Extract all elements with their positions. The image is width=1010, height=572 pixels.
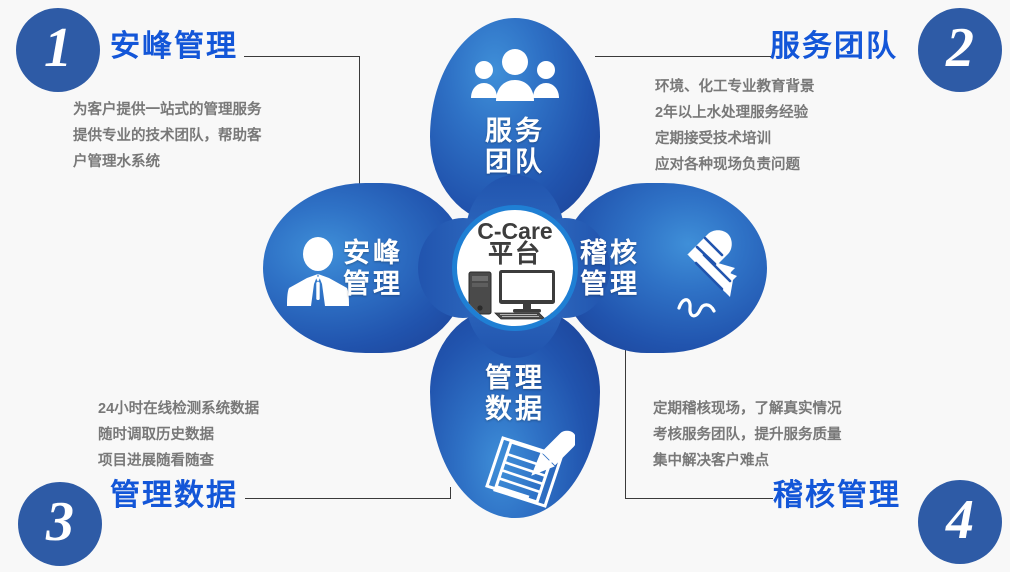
number-badge-3-label: 3	[46, 494, 74, 550]
document-pencil-icon	[483, 428, 575, 514]
petal-label-anfeng-management: 安峰 管理	[343, 238, 455, 300]
section-1-heading: 安峰管理	[110, 21, 238, 65]
section-1-line-2: 提供专业的技术团队，帮助客	[73, 123, 262, 149]
section-4-heading: 稽核管理	[773, 470, 901, 514]
number-badge-4: 4	[918, 480, 1002, 564]
center-hub[interactable]: C-Care 平台	[452, 205, 578, 331]
petal-label-service-team: 服务 团队	[430, 116, 600, 178]
number-badge-1-label: 1	[44, 20, 72, 76]
desktop-computer-icon	[467, 268, 563, 325]
petal-label-management-data: 管理 数据	[430, 363, 600, 425]
flower-diagram: 服务 团队 稽核 管理 管理 数据 安峰 管理 C-Care 平台	[255, 8, 775, 528]
infographic-canvas: 1 2 3 4 安峰管理 服务团队 管理数据 稽核管理 为客户提供一站式的管理服…	[0, 0, 1010, 572]
section-2-heading: 服务团队	[770, 21, 898, 65]
section-3-description: 24小时在线检测系统数据 随时调取历史数据 项目进展随看随查	[98, 396, 259, 474]
section-3-line-1: 24小时在线检测系统数据	[98, 396, 259, 422]
section-1-line-1: 为客户提供一站式的管理服务	[73, 97, 262, 123]
section-3-heading: 管理数据	[110, 470, 238, 514]
number-badge-4-label: 4	[946, 492, 974, 548]
petal-label-audit-management: 稽核 管理	[580, 238, 692, 300]
businessman-icon	[287, 236, 349, 308]
section-1-description: 为客户提供一站式的管理服务 提供专业的技术团队，帮助客 户管理水系统	[73, 97, 262, 175]
section-3-line-2: 随时调取历史数据	[98, 422, 259, 448]
section-1-line-3: 户管理水系统	[73, 149, 262, 175]
number-badge-1: 1	[16, 8, 100, 92]
number-badge-3: 3	[18, 482, 102, 566]
hub-subtitle: 平台	[488, 242, 542, 267]
section-3-line-3: 项目进展随看随查	[98, 448, 259, 474]
number-badge-2: 2	[918, 8, 1002, 92]
number-badge-2-label: 2	[946, 20, 974, 76]
three-people-icon	[470, 48, 560, 106]
